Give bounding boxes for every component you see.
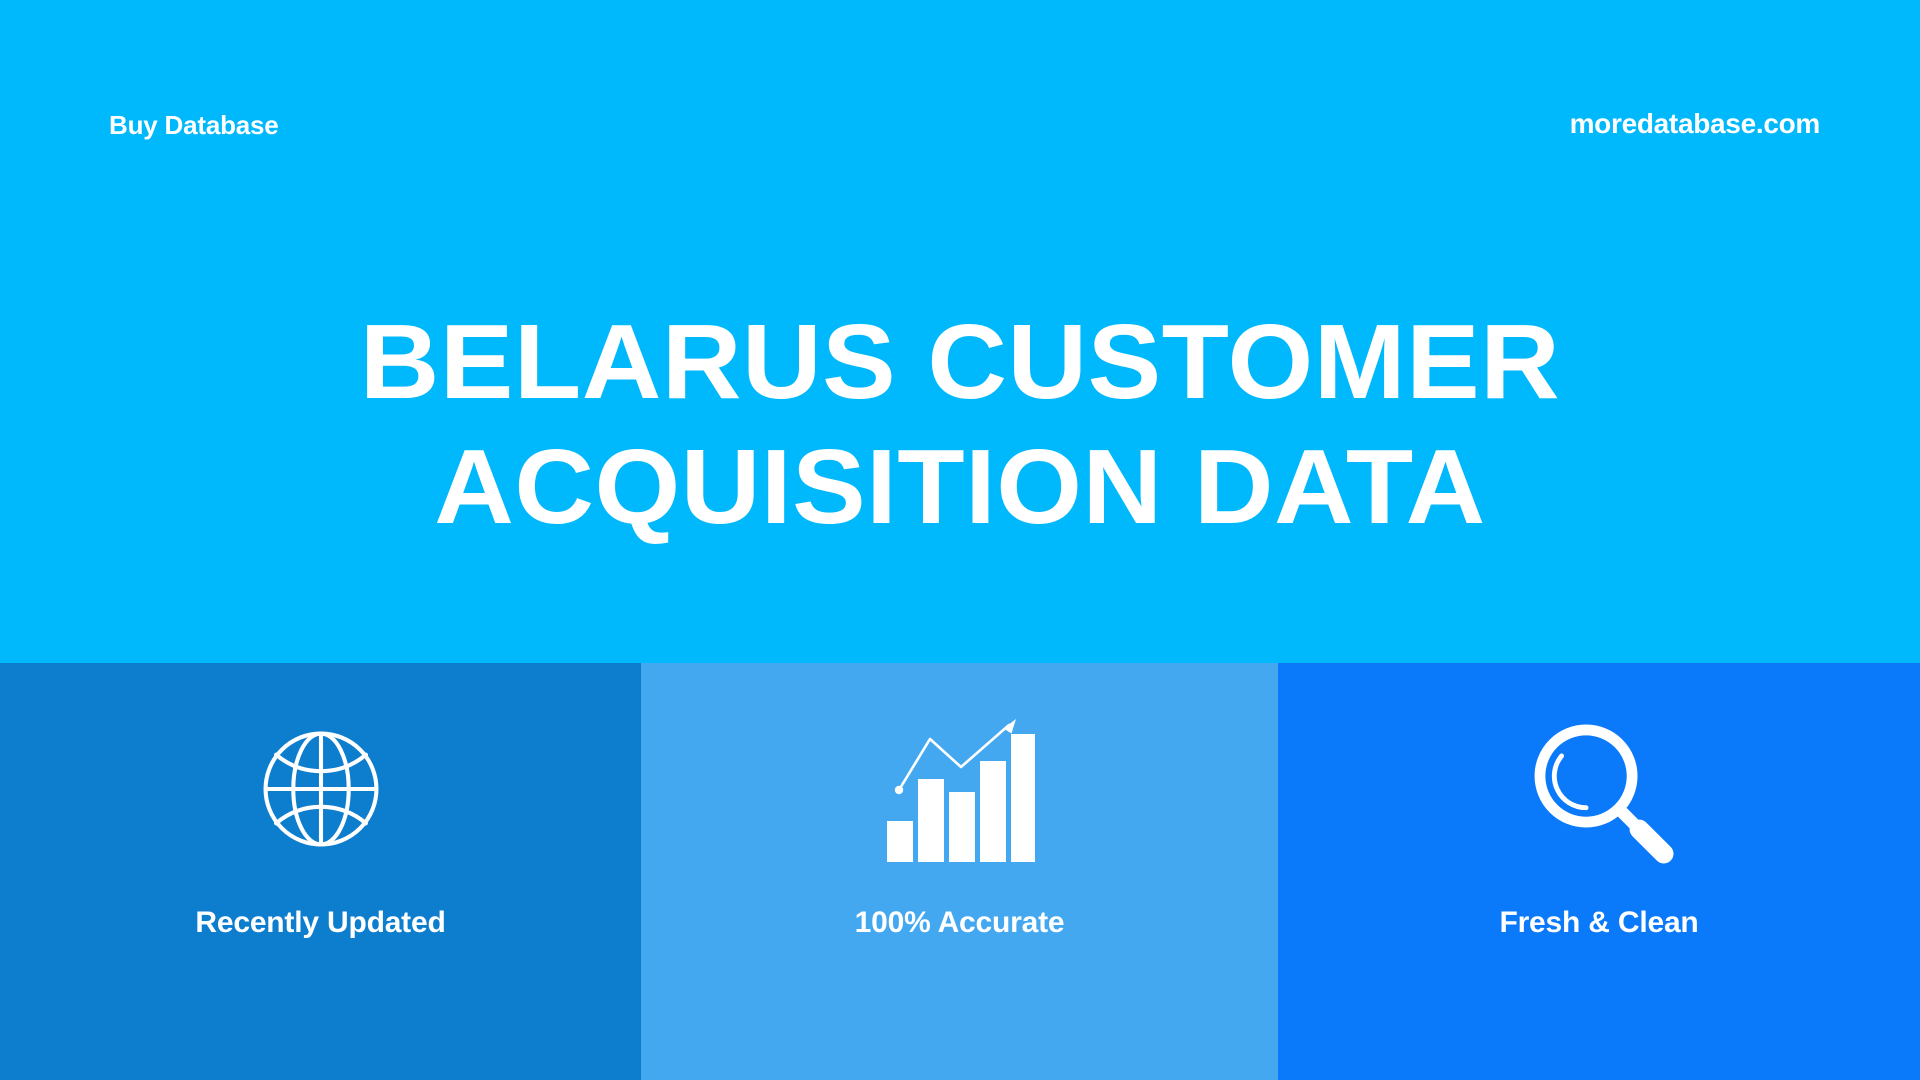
magnifier-icon	[1527, 714, 1671, 864]
page-title: BELARUS CUSTOMER ACQUISITION DATA	[0, 300, 1920, 550]
site-url-label: moredatabase.com	[1570, 108, 1820, 140]
page-title-line-1: BELARUS CUSTOMER	[107, 300, 1813, 425]
feature-label-recently-updated: Recently Updated	[195, 906, 445, 940]
brand-label: Buy Database	[109, 110, 279, 141]
globe-icon	[255, 714, 387, 864]
banner-header: Buy Database moredatabase.com BELARUS CU…	[0, 0, 1920, 663]
feature-panel-accurate: 100% Accurate	[641, 663, 1278, 1080]
feature-label-accurate: 100% Accurate	[855, 906, 1065, 940]
feature-panel-fresh-clean: Fresh & Clean	[1278, 663, 1920, 1080]
growth-bar-chart-icon	[885, 714, 1035, 864]
feature-label-fresh-clean: Fresh & Clean	[1499, 906, 1698, 940]
promo-banner: Buy Database moredatabase.com BELARUS CU…	[0, 0, 1920, 1080]
feature-panel-recently-updated: Recently Updated	[0, 663, 641, 1080]
feature-panels: Recently Updated	[0, 663, 1920, 1080]
page-title-line-2: ACQUISITION DATA	[107, 425, 1813, 550]
